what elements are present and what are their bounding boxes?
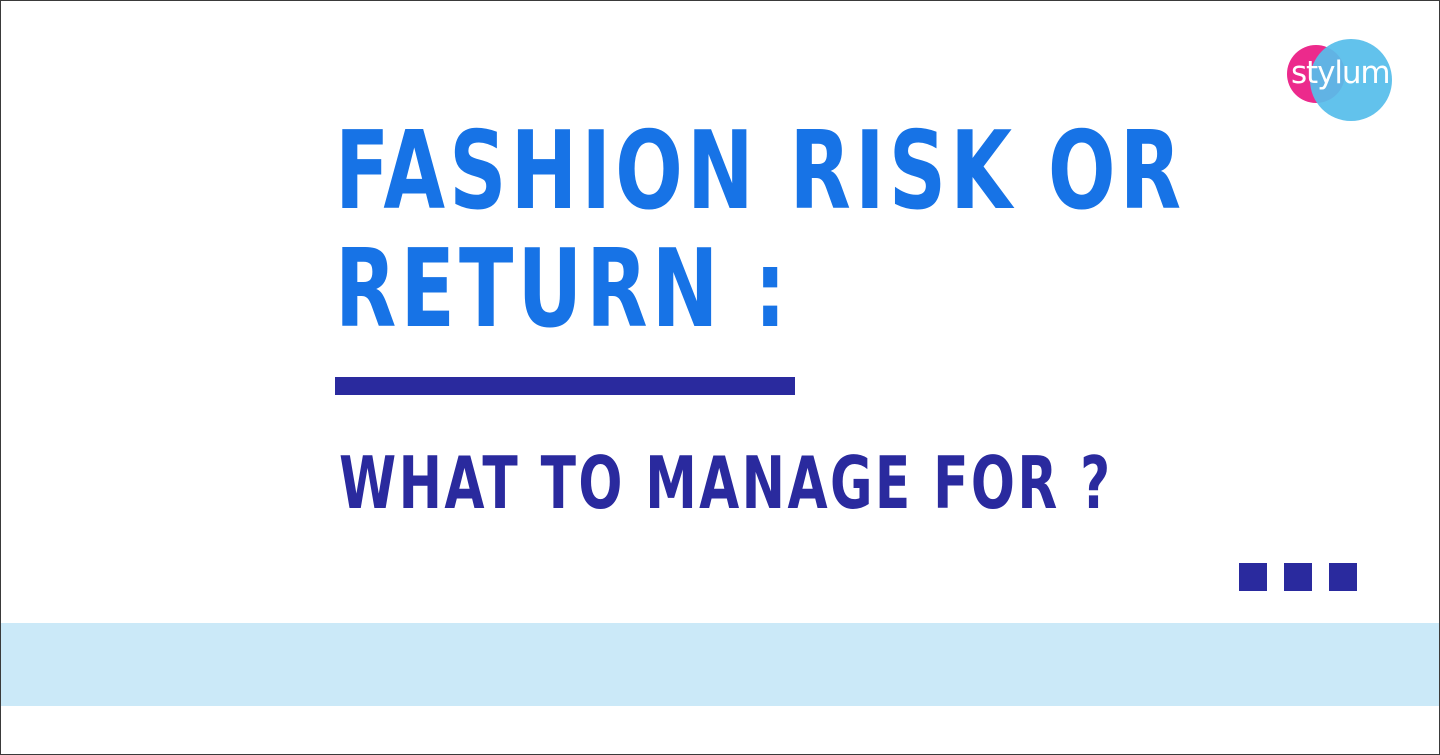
logo-wordmark: stylumia xyxy=(1291,58,1403,89)
decorative-square xyxy=(1239,563,1267,591)
page-subtitle-line-1: WHAT TO MANAGE FOR ? xyxy=(339,444,1059,522)
decorative-square xyxy=(1329,563,1357,591)
decorative-square xyxy=(1284,563,1312,591)
stylumia-logo: stylumia xyxy=(1277,31,1417,123)
page-title: FASHION RISK OR RETURN : xyxy=(335,113,1155,349)
page-subtitle: WHAT TO MANAGE FOR ? xyxy=(339,444,1239,522)
title-divider-bar xyxy=(335,377,795,395)
page-title-line-1: FASHION RISK OR xyxy=(335,113,1007,231)
bottom-accent-band xyxy=(1,623,1439,706)
page-title-line-2: RETURN : xyxy=(335,231,1007,349)
title-slide: stylumia FASHION RISK OR RETURN : WHAT T… xyxy=(0,0,1440,755)
decorative-squares xyxy=(1239,563,1357,591)
